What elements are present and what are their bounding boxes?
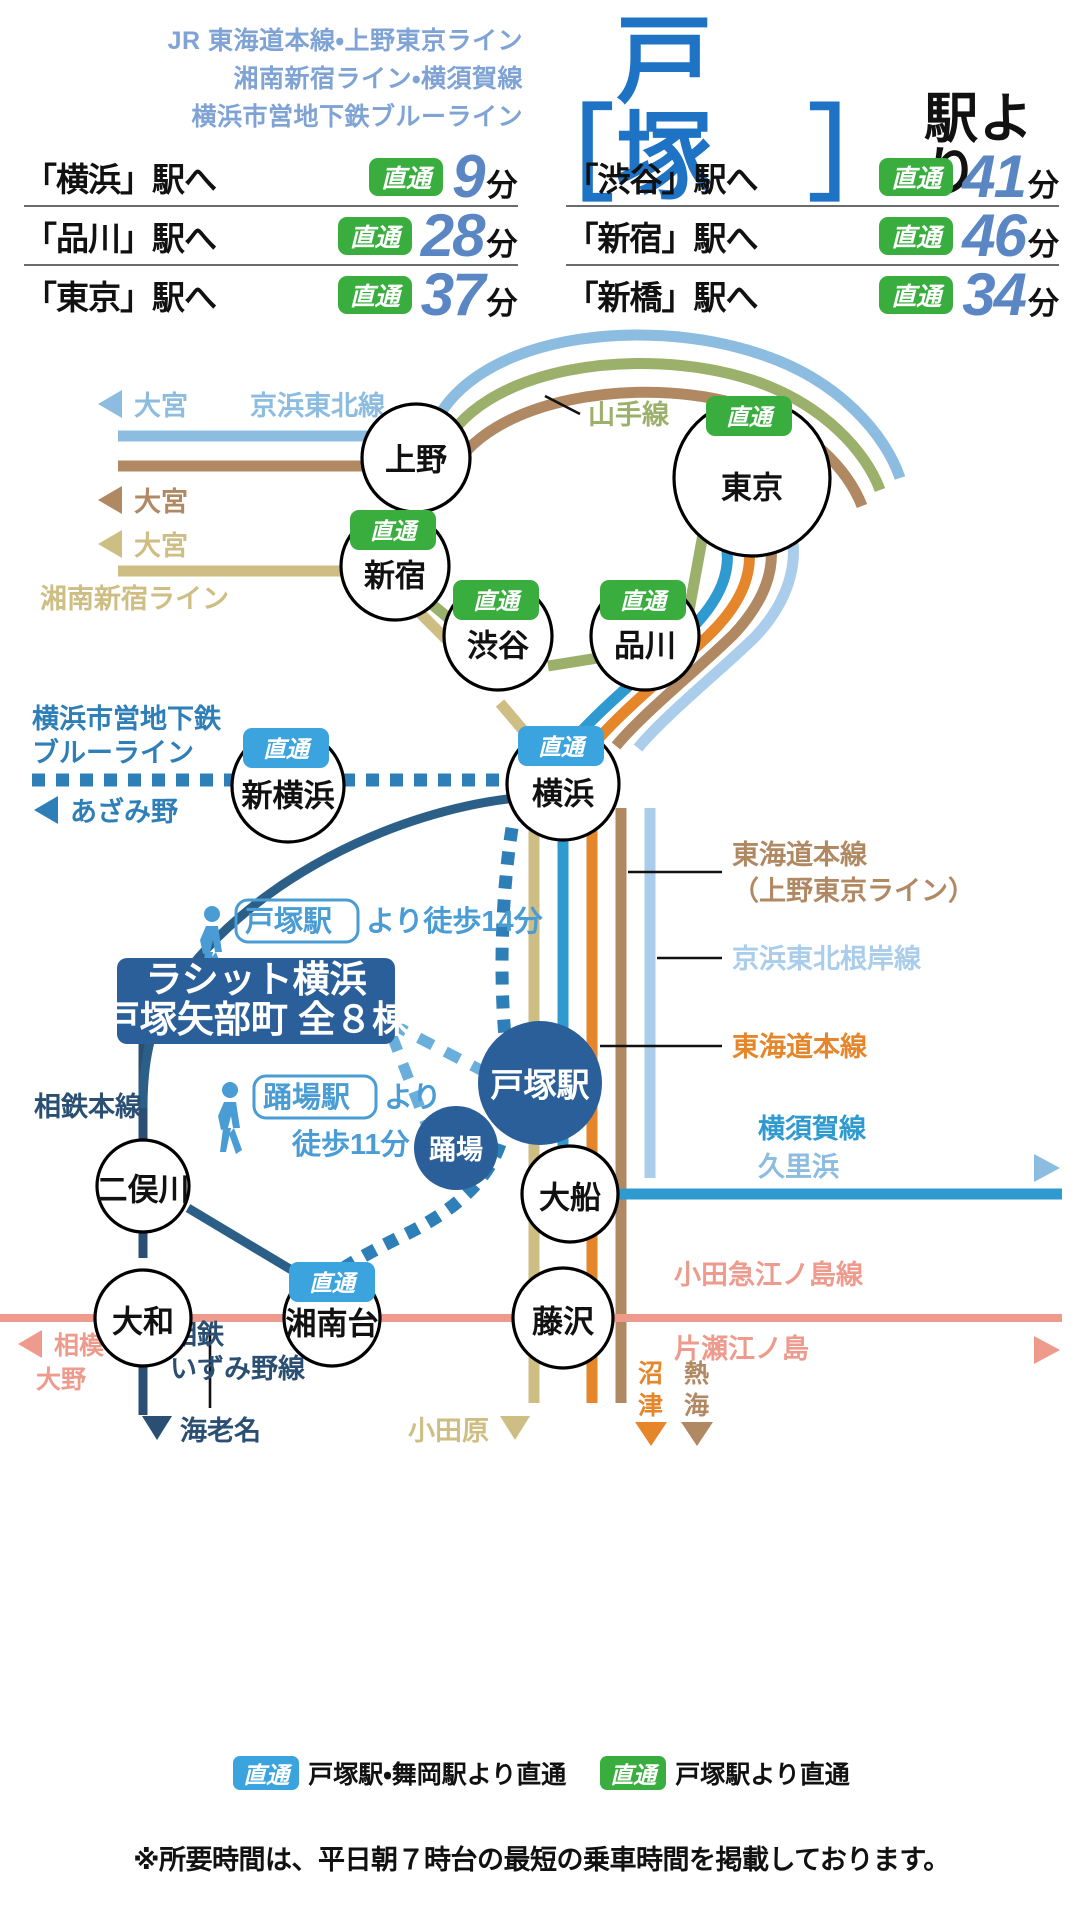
station-odoriba[interactable]: 踊場 [414,1106,498,1190]
terminal-label: 大宮 [134,487,188,517]
station-label: 湘南台 [286,1307,379,1342]
line-label: 東海道本線 [732,1032,868,1062]
line-label: 横須賀線 [758,1114,867,1144]
header-line-2: 湘南新宿ライン・横須賀線 [168,60,523,98]
walking-person-icon [218,1082,242,1154]
station-ueno[interactable]: 上野 [362,404,470,512]
arrow-left-icon [98,486,122,514]
direct-badge: 直通 [338,276,412,314]
terminal-label: 沼 [638,1360,663,1388]
line-label: 山手線 [588,400,670,430]
legend-item-blue: 直通 戸塚駅・舞岡駅より直通 [233,1755,566,1791]
direct-badge-label: 直通 [620,588,670,614]
line-label: ブルーライン [32,737,194,768]
line-label: 京浜東北線 [250,391,386,421]
arrow-left-icon [18,1330,42,1358]
direct-badge: 直通 [879,276,953,314]
direct-badge: 直通 [338,217,412,255]
walk-note-text-2: 徒歩11分 [291,1128,411,1161]
arrow-down-icon [681,1422,713,1446]
legend-label: 戸塚駅・舞岡駅より直通 [308,1755,566,1791]
direct-badge-label: 直通 [263,736,313,762]
direct-badge-blue: 直通 [233,1756,299,1790]
track-sotetsu-izumino [188,1208,305,1278]
destination-label: 「新宿」駅へ [566,212,758,260]
station-shibuya[interactable]: 渋谷 直通 [444,580,552,690]
legend: 直通 戸塚駅・舞岡駅より直通 直通 戸塚駅より直通 [0,1755,1083,1791]
destination-label: 「渋谷」駅へ [566,153,758,201]
direct-badge: 直通 [879,217,953,255]
line-label: （上野東京ライン） [732,876,975,906]
station-label: 二俣川 [97,1173,190,1208]
minutes-unit: 分 [1028,160,1059,205]
route-map: .stn-c{fill:#fff;stroke:#000;stroke-widt… [0,318,1083,1748]
line-label: 京浜東北根岸線 [732,944,922,974]
station-ofuna[interactable]: 大船 [522,1146,618,1242]
station-label: 品川 [614,629,676,664]
minutes-value: 41 [962,147,1025,207]
station-yamato[interactable]: 大和 [95,1270,191,1366]
station-yokohama[interactable]: 横浜 直通 [507,726,619,840]
direct-badge-shin-yokohama: 直通 [243,728,329,768]
minutes-value: 34 [962,265,1025,325]
walk-note-text: より徒歩14分 [366,905,544,938]
travel-time-row: 「横浜」駅へ 直通 9 分 [24,148,518,207]
direct-badge-shinagawa: 直通 [600,580,686,620]
arrow-down-icon [142,1416,172,1440]
terminal-label: 大宮 [134,531,188,561]
line-label: 相鉄本線 [34,1092,143,1122]
line-label: いずみ野線 [170,1354,306,1384]
station-shinjuku[interactable]: 新宿 直通 [341,510,449,620]
minutes-value: 28 [421,206,484,266]
travel-time-row: 「新橋」駅へ 直通 34 分 [566,266,1060,323]
legend-label: 戸塚駅より直通 [675,1755,850,1791]
arrow-down-icon [635,1422,667,1446]
minutes-unit: 分 [1028,219,1059,264]
legend-item-green: 直通 戸塚駅より直通 [600,1755,850,1791]
line-label: 横浜市営地下鉄 [32,703,222,734]
header-line-3: 横浜市営地下鉄ブルーライン [168,98,523,136]
travel-time-row: 「新宿」駅へ 直通 46 分 [566,207,1060,266]
direct-badge: 直通 [369,158,443,196]
minutes-unit: 分 [487,160,518,205]
track-sotetsu-honsen-curve [143,798,516,1108]
terminal-label: 小田原 [408,1416,489,1446]
terminal-label: 大野 [36,1366,86,1394]
direct-badge-shonandai: 直通 [289,1262,375,1302]
arrow-right-icon [1034,1336,1060,1364]
station-label: 新宿 [363,559,426,594]
direct-badge-label: 直通 [309,1270,359,1296]
travel-time-row: 「品川」駅へ 直通 28 分 [24,207,518,266]
direct-badge-label: 直通 [370,518,420,544]
station-label: 藤沢 [532,1305,595,1340]
line-label: 東海道本線 [732,840,868,870]
footnote: ※所要時間は、平日朝７時台の最短の乗車時間を掲載しております。 [0,1838,1083,1877]
terminal-label: 津 [638,1392,663,1420]
walk-note-odoriba: 踊場駅 より 徒歩11分 [218,1076,441,1161]
line-label: 小田急江ノ島線 [674,1260,864,1290]
walk-station-label: 戸塚駅 [245,905,332,938]
arrow-down-icon [500,1416,530,1440]
terminal-label: 大宮 [134,391,188,421]
station-label: 大和 [112,1305,174,1340]
station-label: 横浜 [532,777,594,812]
station-fujisawa[interactable]: 藤沢 [513,1268,613,1368]
terminal-label: 海老名 [180,1415,261,1446]
destination-label: 「東京」駅へ [24,271,216,319]
header-line-1: JR 東海道本線・上野東京ライン [168,22,523,60]
station-label: 渋谷 [467,629,529,664]
station-label: 戸塚駅 [491,1067,590,1104]
direct-badge-shinjuku: 直通 [350,510,436,550]
minutes-value: 37 [421,265,484,325]
direct-badge-green: 直通 [600,1756,666,1790]
station-shonandai[interactable]: 湘南台 直通 [284,1262,380,1366]
line-label: 湘南新宿ライン [40,584,229,614]
minutes-value: 9 [452,147,483,207]
destination-label: 「品川」駅へ [24,212,216,260]
station-label: 新横浜 [241,779,335,814]
direct-badge-shibuya: 直通 [453,580,539,620]
travel-time-row: 「東京」駅へ 直通 37 分 [24,266,518,323]
property-name-line1: ラシット横浜 [145,959,366,1000]
arrow-right-icon [1034,1154,1060,1182]
arrow-left-icon [98,390,122,418]
direct-badge-label: 直通 [538,734,588,760]
header-line-list: JR 東海道本線・上野東京ライン 湘南新宿ライン・横須賀線 横浜市営地下鉄ブルー… [168,22,523,136]
travel-time-column-right: 「渋谷」駅へ 直通 41 分 「新宿」駅へ 直通 46 分 「新橋」駅へ 直通 … [566,148,1060,323]
travel-time-table: 「横浜」駅へ 直通 9 分 「品川」駅へ 直通 28 分 「東京」駅へ 直通 3… [0,148,1083,323]
direct-badge-tokyo: 直通 [706,396,792,436]
station-tokyo[interactable]: 東京 直通 [674,396,830,556]
property-name-line2: 戸塚矢部町 全８棟 [103,999,410,1040]
station-label: 東京 [721,471,783,506]
travel-time-column-left: 「横浜」駅へ 直通 9 分 「品川」駅へ 直通 28 分 「東京」駅へ 直通 3… [24,148,518,323]
arrow-left-icon [34,796,58,824]
property-label-box[interactable]: ラシット横浜 戸塚矢部町 全８棟 [103,958,410,1044]
station-shin-yokohama[interactable]: 新横浜 直通 [232,728,344,842]
terminal-label: 海 [684,1392,709,1420]
minutes-unit: 分 [1028,278,1059,323]
walk-note-text: より [384,1082,441,1114]
direct-badge: 直通 [879,158,953,196]
direct-badge-label: 直通 [473,588,523,614]
direct-badge-label: 直通 [726,404,776,430]
station-label: 上野 [385,443,447,478]
track-yamanote-shibuya-shinagawa [548,658,598,666]
minutes-value: 46 [962,206,1025,266]
minutes-unit: 分 [487,219,518,264]
arrow-left-icon [98,530,122,558]
travel-time-row: 「渋谷」駅へ 直通 41 分 [566,148,1060,207]
station-label: 踊場 [429,1135,483,1165]
station-label: 大船 [539,1181,601,1216]
terminal-label: あざみ野 [70,796,178,827]
station-totsuka[interactable]: 戸塚駅 [478,1021,602,1145]
destination-label: 「横浜」駅へ [24,153,216,201]
station-futamatagawa[interactable]: 二俣川 [97,1140,190,1232]
walk-station-label: 踊場駅 [263,1081,350,1114]
minutes-unit: 分 [487,278,518,323]
terminal-label: 久里浜 [758,1152,839,1182]
direct-badge-yokohama: 直通 [518,726,604,766]
destination-label: 「新橋」駅へ [566,271,758,319]
station-shinagawa[interactable]: 品川 直通 [591,580,699,690]
terminal-label: 熱 [684,1360,709,1388]
